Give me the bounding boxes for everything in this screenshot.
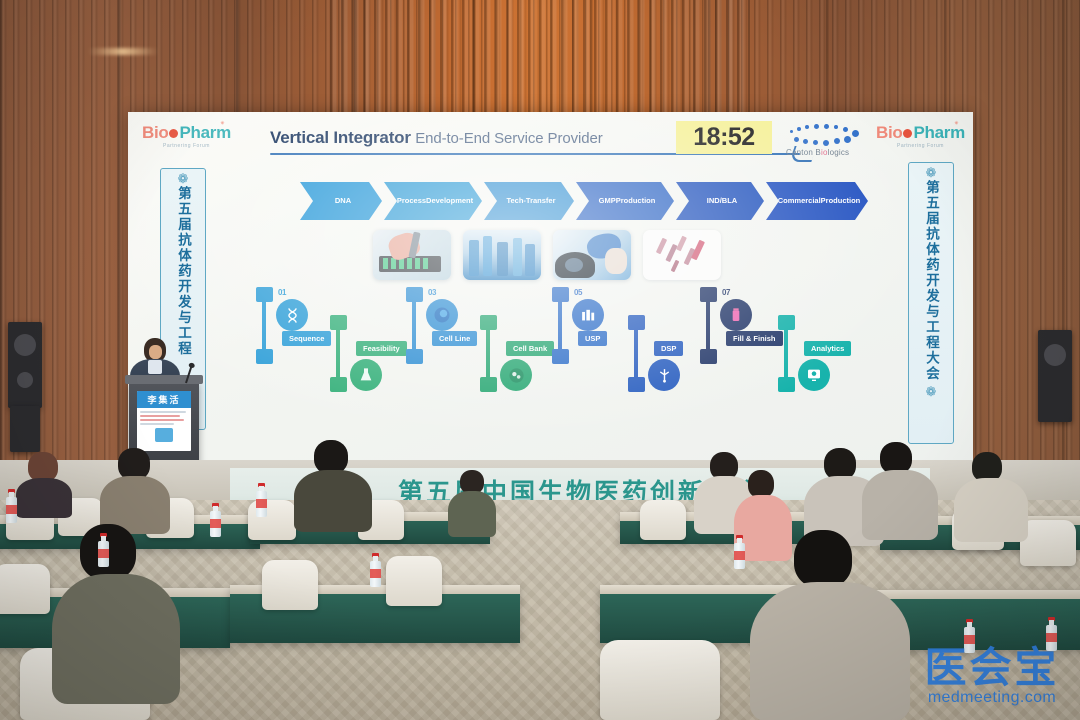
node-stem: [262, 301, 266, 351]
banner-ornament-icon: ❁: [926, 166, 937, 179]
slide-header: ✷ BioPharm Partnering Forum Vertical Int…: [128, 112, 973, 164]
pipetting-photo: [373, 230, 451, 280]
sparkle-icon: ✷: [220, 120, 225, 127]
banner-left-text: 第五届抗体药开发与工程: [173, 186, 193, 357]
vial-icon: [720, 299, 752, 331]
node-cap: [628, 377, 645, 392]
node-badge: 05: [574, 288, 582, 297]
photo-thumbnail-row: [373, 230, 721, 280]
slide-title: Vertical Integrator End-to-End Service P…: [270, 128, 690, 148]
node-cap-end: [406, 349, 423, 364]
canton-name-hl: io: [821, 148, 828, 157]
podium-sign-logo: [155, 428, 173, 442]
canton-logo-text: Canton Biologics: [786, 148, 906, 157]
node-cap: [700, 287, 717, 302]
speaker-cone-icon: [14, 334, 36, 356]
dna-dots-icon: [786, 122, 890, 147]
chair: [640, 500, 686, 540]
presenter-shirt: [148, 360, 162, 374]
flow-step-label: Development: [426, 197, 473, 206]
wall-accent-light: [88, 48, 158, 55]
flow-step-label: Tech-: [506, 197, 525, 206]
flow-step-label: Production: [616, 197, 656, 206]
flow-step-4: GMPProduction: [576, 182, 674, 220]
node-label: DSP: [654, 341, 683, 356]
slide-title-light: End-to-End Service Provider: [415, 130, 602, 147]
watermark-domain: medmeeting.com: [908, 689, 1076, 707]
flow-step-2: ProcessDevelopment: [384, 182, 482, 220]
canton-name-b: logics: [828, 148, 850, 157]
node-cap: [406, 287, 423, 302]
banner-right: ❁ 第五届抗体药开发与工程大会 ❁: [908, 162, 954, 444]
node-label: USP: [578, 331, 607, 346]
banner-right-text: 第五届抗体药开发与工程大会: [921, 180, 941, 382]
node-badge: 06: [650, 378, 658, 387]
logo-dot-icon: [903, 129, 912, 138]
flow-step-label: Process: [397, 197, 426, 206]
flow-step-label: Production: [821, 197, 861, 206]
node-stem: [706, 301, 710, 351]
flow-step-label: Transfer: [526, 197, 556, 206]
node-label: Fill & Finish: [726, 331, 783, 346]
watermark: 医会宝 medmeeting.com: [908, 648, 1076, 707]
logo-bio-text: Bio: [876, 123, 902, 142]
process-flow-chevrons: DNAProcessDevelopmentTech-TransferGMPPro…: [300, 182, 870, 220]
node-stem: [558, 301, 562, 351]
logo-tagline: Partnering Forum: [142, 143, 231, 149]
canton-name-a: Canton B: [786, 148, 821, 157]
node-badge: 07: [722, 288, 730, 297]
node-cap-end: [628, 315, 645, 330]
node-stem: [412, 301, 416, 351]
node-cap: [480, 377, 497, 392]
bioreactor-icon: [572, 299, 604, 331]
logo-dot-icon: [169, 129, 178, 138]
node-label: Feasibility: [356, 341, 407, 356]
node-cap-end: [552, 349, 569, 364]
node-label: Cell Line: [432, 331, 477, 346]
biopharm-logo-left: ✷ BioPharm Partnering Forum: [142, 124, 231, 149]
flow-step-label: DNA: [335, 197, 351, 206]
node-stem: [784, 329, 788, 379]
loudspeaker-right: [1038, 330, 1072, 422]
node-stem: [634, 329, 638, 379]
node-cap: [330, 377, 347, 392]
node-badge: 04: [502, 378, 510, 387]
flow-step-label: IND/BLA: [707, 197, 737, 206]
podium-name-sign: 李集活: [137, 391, 191, 451]
projection-screen: ✷ BioPharm Partnering Forum Vertical Int…: [128, 112, 973, 460]
node-cap-end: [778, 315, 795, 330]
node-cap: [552, 287, 569, 302]
chair: [1020, 520, 1076, 566]
node-cap-end: [700, 349, 717, 364]
loudspeaker-left-upper: [8, 322, 42, 408]
cell-icon: [426, 299, 458, 331]
node-badge: 02: [352, 378, 360, 387]
flow-step-1: DNA: [300, 182, 382, 220]
bioreactor-photo: [463, 230, 541, 280]
podium-speaker-name: 李集活: [137, 391, 191, 408]
flow-step-6: CommercialProduction: [766, 182, 868, 220]
node-label: Analytics: [804, 341, 851, 356]
logo-tagline: Partnering Forum: [876, 143, 965, 149]
capability-timeline: Sequence01Feasibility02Cell Line03Cell B…: [128, 287, 973, 417]
banner-ornament-icon: ❁: [178, 172, 189, 185]
node-cap: [778, 377, 795, 392]
node-badge: 08: [800, 378, 808, 387]
speaker-tweeter-icon: [17, 372, 33, 388]
chair: [0, 564, 50, 614]
speaker-cone-icon: [1044, 344, 1066, 366]
microscope-photo: [553, 230, 631, 280]
node-badge: 01: [278, 288, 286, 297]
chair: [386, 556, 442, 606]
node-cap-end: [256, 349, 273, 364]
timer-value: 18:52: [693, 123, 754, 152]
chair: [600, 640, 720, 720]
presenter-face: [149, 345, 162, 359]
chair: [262, 560, 318, 610]
slide-title-strong: Vertical Integrator: [270, 128, 411, 147]
podium-top-surface: [125, 375, 203, 384]
biopharm-logo-right: ✷ BioPharm Partnering Forum: [876, 124, 965, 149]
node-badge: 03: [428, 288, 436, 297]
flow-step-label: Commercial: [778, 197, 821, 206]
vials-photo: [643, 230, 721, 280]
banner-ornament-icon: ❁: [926, 385, 937, 398]
logo-bio-text: Bio: [142, 123, 168, 142]
node-cap-end: [330, 315, 347, 330]
sparkle-icon: ✷: [954, 120, 959, 127]
flow-step-5: IND/BLA: [676, 182, 764, 220]
conference-photo: ✷ BioPharm Partnering Forum Vertical Int…: [0, 0, 1080, 720]
loudspeaker-left-lower: [10, 406, 40, 452]
dna-icon: [276, 299, 308, 331]
node-cap-end: [480, 315, 497, 330]
node-label: Cell Bank: [506, 341, 554, 356]
node-cap: [256, 287, 273, 302]
node-label: Sequence: [282, 331, 331, 346]
flow-step-label: GMP: [599, 197, 616, 206]
countdown-timer: 18:52: [676, 121, 772, 154]
flow-step-3: Tech-Transfer: [484, 182, 574, 220]
watermark-chinese: 医会宝: [908, 648, 1076, 688]
node-stem: [336, 329, 340, 379]
node-stem: [486, 329, 490, 379]
podium-sign-body: [137, 408, 191, 442]
